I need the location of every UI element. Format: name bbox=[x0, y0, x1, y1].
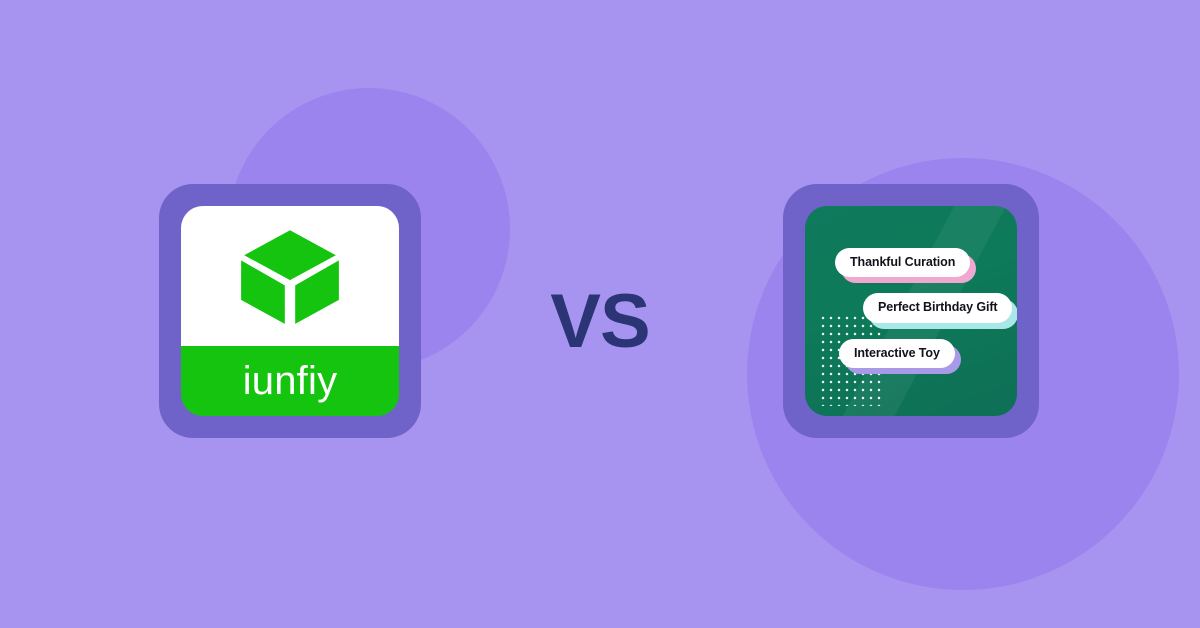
tag-chip[interactable]: Perfect Birthday Gift bbox=[863, 293, 1012, 322]
right-app-card-inner: Thankful Curation Perfect Birthday Gift … bbox=[805, 206, 1017, 416]
tag-list: Thankful Curation Perfect Birthday Gift … bbox=[805, 206, 1017, 416]
tag-wrapper: Thankful Curation bbox=[835, 248, 970, 277]
tag-wrapper: Perfect Birthday Gift bbox=[863, 293, 1012, 322]
tag-row: Thankful Curation bbox=[805, 248, 1017, 277]
tag-row: Perfect Birthday Gift bbox=[805, 293, 1017, 322]
tag-chip[interactable]: Interactive Toy bbox=[839, 339, 955, 368]
tag-row: Interactive Toy bbox=[805, 339, 1017, 368]
tag-wrapper: Interactive Toy bbox=[839, 339, 955, 368]
tag-chip[interactable]: Thankful Curation bbox=[835, 248, 970, 277]
right-app-card[interactable]: Thankful Curation Perfect Birthday Gift … bbox=[783, 184, 1039, 438]
left-app-name: iunfiy bbox=[243, 361, 338, 401]
comparison-banner: iunfiy VS Thankful Curation Per bbox=[0, 0, 1200, 628]
